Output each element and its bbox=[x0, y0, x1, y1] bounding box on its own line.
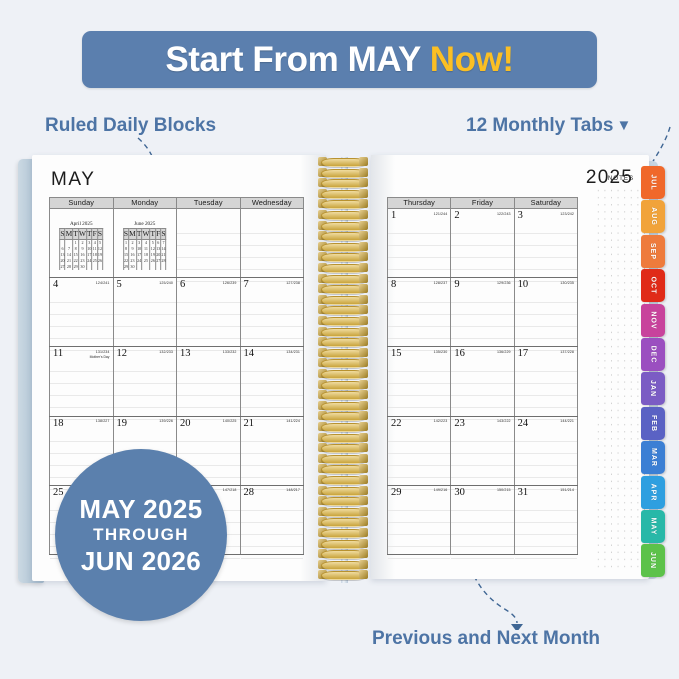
ruled-line bbox=[388, 466, 450, 478]
ruled-line bbox=[451, 535, 513, 547]
ruled-line bbox=[388, 430, 450, 442]
ruled-line bbox=[388, 327, 450, 339]
spiral-coil bbox=[318, 327, 368, 337]
spiral-coil bbox=[318, 295, 368, 305]
ruled-line bbox=[388, 499, 450, 511]
ruled-line bbox=[451, 454, 513, 466]
calendar-ruled-lines bbox=[241, 291, 304, 346]
calendar-day-number: 13 bbox=[180, 348, 191, 359]
calendar-day-number: 29 bbox=[391, 487, 402, 498]
calendar-day-number: 22 bbox=[391, 418, 402, 429]
monthly-tab-jun[interactable]: JUN bbox=[641, 544, 665, 577]
ruled-line bbox=[241, 234, 304, 246]
calendar-day-number: 19 bbox=[117, 418, 128, 429]
ruled-line bbox=[50, 291, 113, 303]
ruled-line bbox=[515, 384, 577, 396]
ruled-line bbox=[114, 396, 177, 408]
ruled-line bbox=[388, 511, 450, 523]
spiral-coil bbox=[318, 464, 368, 474]
calendar-day-ordinal: 139/226 bbox=[159, 419, 173, 423]
spiral-coil bbox=[318, 199, 368, 209]
ruled-line bbox=[515, 360, 577, 372]
calendar-weekday-header: Friday bbox=[451, 198, 514, 209]
calendar-day-ordinal: 143/222 bbox=[497, 419, 511, 423]
calendar-day-ordinal: 134/231 bbox=[286, 350, 300, 354]
calendar-day-ordinal: 137/228 bbox=[560, 350, 574, 354]
spiral-coil bbox=[318, 231, 368, 241]
ruled-line bbox=[451, 315, 513, 327]
spiral-coil bbox=[318, 401, 368, 411]
calendar-day-ordinal: 135/230 bbox=[434, 350, 448, 354]
calendar-day-cell[interactable]: 13133/232 bbox=[177, 347, 241, 416]
ruled-line bbox=[50, 396, 113, 408]
ruled-line bbox=[515, 454, 577, 466]
calendar-day-cell[interactable]: 30150/215 bbox=[451, 485, 514, 554]
monthly-tab-jan[interactable]: JAN bbox=[641, 372, 665, 405]
spiral-coil bbox=[318, 433, 368, 443]
mini-calendar-weekday: M bbox=[65, 229, 73, 240]
ruled-line bbox=[241, 384, 304, 396]
calendar-day-cell[interactable]: 12132/233 bbox=[113, 347, 177, 416]
calendar-ruled-lines bbox=[50, 291, 113, 346]
calendar-weekday-header: Monday bbox=[113, 198, 177, 209]
monthly-tab-apr[interactable]: APR bbox=[641, 476, 665, 509]
spiral-coil bbox=[318, 454, 368, 464]
calendar-day-ordinal: 127/238 bbox=[286, 281, 300, 285]
ruled-line bbox=[114, 315, 177, 327]
ruled-line bbox=[241, 246, 304, 258]
mini-calendar-title: June 2025 bbox=[123, 221, 167, 227]
spiral-coil bbox=[318, 411, 368, 421]
mini-calendar-grid: SMTWTFS123456789101112131415161718192021… bbox=[123, 228, 167, 270]
ruled-line bbox=[451, 246, 513, 258]
ruled-line bbox=[114, 372, 177, 384]
monthly-tab-sep[interactable]: SEP bbox=[641, 235, 665, 268]
calendar-day-ordinal: 148/217 bbox=[286, 488, 300, 492]
calendar-day-ordinal: 125/240 bbox=[159, 281, 173, 285]
ruled-line bbox=[515, 291, 577, 303]
spiral-coil bbox=[318, 189, 368, 199]
ruled-line bbox=[114, 303, 177, 315]
calendar-day-number: 12 bbox=[117, 348, 128, 359]
monthly-tab-label: JUN bbox=[649, 552, 656, 569]
calendar-mini-cell: June 2025SMTWTFS123456789101112131415161… bbox=[113, 209, 177, 278]
calendar-day-cell[interactable]: 3123/242 bbox=[514, 209, 577, 278]
calendar-ruled-lines bbox=[241, 360, 304, 415]
calendar-week-row: 29149/21630150/21531151/214 bbox=[388, 485, 578, 554]
product-image-canvas: Start From MAY Now! Ruled Daily Blocks 1… bbox=[0, 0, 679, 679]
mini-calendar-weekday: M bbox=[129, 229, 137, 240]
calendar-ruled-lines bbox=[241, 222, 304, 277]
calendar-day-cell[interactable]: 8128/237 bbox=[388, 278, 451, 347]
calendar-day-ordinal: 129/236 bbox=[497, 281, 511, 285]
ruled-line bbox=[515, 430, 577, 442]
calendar-header-row-left: SundayMondayTuesdayWednesday bbox=[50, 198, 304, 209]
ruled-line bbox=[515, 499, 577, 511]
ruled-line bbox=[388, 234, 450, 246]
monthly-tab-label: DEC bbox=[650, 346, 657, 364]
ruled-line bbox=[177, 327, 240, 339]
ruled-line bbox=[241, 511, 304, 523]
calendar-ruled-lines bbox=[388, 291, 450, 346]
mini-calendar-weekday: T bbox=[73, 229, 79, 240]
calendar-holiday-label: Mother's Day bbox=[90, 355, 110, 359]
spiral-coil bbox=[318, 263, 368, 273]
ruled-line bbox=[388, 303, 450, 315]
calendar-day-cell[interactable] bbox=[177, 209, 241, 278]
calendar-day-number: 15 bbox=[391, 348, 402, 359]
ruled-line bbox=[451, 303, 513, 315]
ruled-line bbox=[177, 372, 240, 384]
calendar-day-ordinal: 140/225 bbox=[223, 419, 237, 423]
calendar-day-cell[interactable]: 31151/214 bbox=[514, 485, 577, 554]
calendar-ruled-lines bbox=[241, 430, 304, 485]
calendar-ruled-lines bbox=[177, 360, 240, 415]
calendar-day-number: 5 bbox=[117, 279, 122, 290]
ruled-line bbox=[114, 360, 177, 372]
mini-calendar-weekday: S bbox=[161, 229, 166, 240]
calendar-ruled-lines bbox=[451, 291, 513, 346]
ruled-line bbox=[241, 222, 304, 234]
ruled-line bbox=[241, 360, 304, 372]
calendar-weekday-header: Sunday bbox=[50, 198, 114, 209]
spiral-coil bbox=[318, 242, 368, 252]
ruled-line bbox=[451, 499, 513, 511]
calendar-grid-right: ThursdayFridaySaturday 1121/2442122/2433… bbox=[387, 197, 578, 555]
calendar-ruled-lines bbox=[50, 360, 113, 415]
monthly-tab-label: AUG bbox=[650, 208, 657, 227]
monthly-tab-label: JUL bbox=[649, 174, 656, 190]
annotation-previous-next-month: Previous and Next Month bbox=[372, 628, 600, 650]
ruled-line bbox=[241, 291, 304, 303]
ruled-line bbox=[241, 499, 304, 511]
calendar-day-cell[interactable]: 10130/235 bbox=[514, 278, 577, 347]
calendar-ruled-lines bbox=[515, 430, 577, 485]
calendar-weekday-header: Wednesday bbox=[240, 198, 304, 209]
ruled-line bbox=[515, 523, 577, 535]
mini-calendar: June 2025SMTWTFS123456789101112131415161… bbox=[123, 221, 167, 270]
calendar-week-row: 8128/2379129/23610130/235 bbox=[388, 278, 578, 347]
calendar-ruled-lines bbox=[515, 222, 577, 277]
calendar-day-ordinal: 144/221 bbox=[560, 419, 574, 423]
ruled-line bbox=[177, 315, 240, 327]
ruled-line bbox=[177, 258, 240, 270]
spiral-coil bbox=[318, 168, 368, 178]
ruled-line bbox=[515, 535, 577, 547]
calendar-ruled-lines bbox=[451, 222, 513, 277]
calendar-day-number: 28 bbox=[244, 487, 255, 498]
ruled-line bbox=[114, 327, 177, 339]
calendar-day-cell[interactable]: 29149/216 bbox=[388, 485, 451, 554]
calendar-day-ordinal: 142/223 bbox=[434, 419, 448, 423]
ruled-line bbox=[515, 303, 577, 315]
ruled-line bbox=[241, 442, 304, 454]
ruled-line bbox=[515, 315, 577, 327]
calendar-day-cell[interactable] bbox=[240, 209, 304, 278]
calendar-day-ordinal: 130/235 bbox=[560, 281, 574, 285]
mini-calendar-weekday: F bbox=[92, 229, 97, 240]
planner-page-right: 2025 ThursdayFridaySaturday 1121/2442122… bbox=[371, 155, 649, 579]
calendar-day-number: 1 bbox=[391, 210, 396, 221]
calendar-day-cell[interactable]: 7127/238 bbox=[240, 278, 304, 347]
calendar-day-ordinal: 150/215 bbox=[497, 488, 511, 492]
calendar-day-ordinal: 138/227 bbox=[96, 419, 110, 423]
ruled-line bbox=[241, 303, 304, 315]
ruled-line bbox=[388, 384, 450, 396]
spiral-coil bbox=[318, 358, 368, 368]
ruled-line bbox=[515, 511, 577, 523]
date-range-badge-circle: MAY 2025 THROUGH JUN 2026 bbox=[55, 449, 227, 621]
calendar-week-row: 22142/22323143/22224144/221 bbox=[388, 416, 578, 485]
spiral-coil bbox=[318, 252, 368, 262]
spiral-coil bbox=[318, 178, 368, 188]
badge-line-3: JUN 2026 bbox=[81, 547, 201, 576]
calendar-day-number: 30 bbox=[454, 487, 465, 498]
calendar-ruled-lines bbox=[451, 430, 513, 485]
mini-calendar-weekday: W bbox=[78, 229, 86, 240]
spiral-coil bbox=[318, 348, 368, 358]
ruled-line bbox=[388, 454, 450, 466]
calendar-day-cell[interactable]: 15135/230 bbox=[388, 347, 451, 416]
calendar-day-number: 16 bbox=[454, 348, 465, 359]
calendar-ruled-lines bbox=[388, 360, 450, 415]
spiral-coil bbox=[318, 528, 368, 538]
ruled-line bbox=[114, 430, 177, 442]
ruled-line bbox=[451, 222, 513, 234]
ruled-line bbox=[515, 396, 577, 408]
annotation-monthly-tabs-label: 12 Monthly Tabs bbox=[466, 115, 613, 136]
monthly-tab-label: MAY bbox=[649, 518, 656, 536]
calendar-weekday-header: Tuesday bbox=[177, 198, 241, 209]
calendar-ruled-lines bbox=[388, 430, 450, 485]
monthly-tab-feb[interactable]: FEB bbox=[641, 407, 665, 440]
calendar-day-number: 24 bbox=[518, 418, 529, 429]
calendar-ruled-lines bbox=[114, 360, 177, 415]
ruled-line bbox=[50, 303, 113, 315]
monthly-tab-nov[interactable]: NOV bbox=[641, 304, 665, 337]
calendar-ruled-lines bbox=[515, 360, 577, 415]
calendar-day-number: 4 bbox=[53, 279, 58, 290]
calendar-week-row: 4124/2415125/2406126/2397127/238 bbox=[50, 278, 304, 347]
ruled-line bbox=[177, 303, 240, 315]
monthly-tab-label: OCT bbox=[650, 277, 657, 295]
ruled-line bbox=[451, 466, 513, 478]
ruled-line bbox=[177, 430, 240, 442]
ruled-line bbox=[50, 372, 113, 384]
calendar-day-cell[interactable]: 4124/241 bbox=[50, 278, 114, 347]
calendar-day-cell[interactable]: 2122/243 bbox=[451, 209, 514, 278]
calendar-week-row: April 2025SMTWTFS12345678910111213141516… bbox=[50, 209, 304, 278]
calendar-ruled-lines bbox=[241, 499, 304, 554]
monthly-tab-oct[interactable]: OCT bbox=[641, 269, 665, 302]
mini-calendar-day bbox=[161, 264, 166, 270]
calendar-day-number: 10 bbox=[518, 279, 529, 290]
ruled-line bbox=[451, 291, 513, 303]
spiral-coil bbox=[318, 507, 368, 517]
calendar-ruled-lines bbox=[388, 222, 450, 277]
ruled-line bbox=[388, 547, 450, 559]
monthly-tab-label: NOV bbox=[649, 311, 656, 329]
monthly-tab-label: JAN bbox=[649, 380, 656, 397]
ruled-line bbox=[451, 547, 513, 559]
ruled-line bbox=[50, 384, 113, 396]
mini-calendar-weekday: S bbox=[123, 229, 128, 240]
calendar-body-right: 1121/2442122/2433123/2428128/2379129/236… bbox=[388, 209, 578, 555]
ruled-line bbox=[451, 372, 513, 384]
spiral-coil bbox=[318, 539, 368, 549]
ruled-line bbox=[451, 430, 513, 442]
calendar-day-cell[interactable]: 16136/229 bbox=[451, 347, 514, 416]
calendar-day-ordinal: 122/243 bbox=[497, 212, 511, 216]
ruled-line bbox=[177, 222, 240, 234]
spiral-coil bbox=[318, 560, 368, 570]
mini-calendar-day: 30 bbox=[78, 264, 86, 270]
calendar-day-number: 6 bbox=[180, 279, 185, 290]
calendar-ruled-lines bbox=[451, 360, 513, 415]
ruled-line bbox=[515, 246, 577, 258]
mini-calendar-weekday: T bbox=[150, 229, 156, 240]
calendar-day-cell[interactable]: 28148/217 bbox=[240, 485, 304, 554]
calendar-day-number: 23 bbox=[454, 418, 465, 429]
ruled-line bbox=[177, 384, 240, 396]
monthly-tab-may[interactable]: MAY bbox=[641, 510, 665, 543]
spiral-coil bbox=[318, 284, 368, 294]
calendar-week-row: 15135/23016136/22917137/228 bbox=[388, 347, 578, 416]
ruled-line bbox=[388, 291, 450, 303]
ruled-line bbox=[515, 466, 577, 478]
promo-banner-main: Start From MAY bbox=[165, 40, 429, 79]
calendar-day-number: 11 bbox=[53, 348, 63, 359]
badge-line-2: THROUGH bbox=[93, 523, 189, 547]
calendar-day-cell[interactable]: 9129/236 bbox=[451, 278, 514, 347]
ruled-line bbox=[241, 466, 304, 478]
calendar-day-ordinal: 124/241 bbox=[96, 281, 110, 285]
calendar-day-cell[interactable]: 22142/223 bbox=[388, 416, 451, 485]
ruled-line bbox=[241, 372, 304, 384]
calendar-day-ordinal: 123/242 bbox=[560, 212, 574, 216]
spiral-coil bbox=[318, 486, 368, 496]
ruled-line bbox=[388, 442, 450, 454]
calendar-weekday-header: Thursday bbox=[388, 198, 451, 209]
mini-calendar-weekday: T bbox=[87, 229, 93, 240]
spiral-coil bbox=[318, 316, 368, 326]
spiral-coil bbox=[318, 210, 368, 220]
calendar-day-number: 31 bbox=[518, 487, 529, 498]
ruled-line bbox=[177, 291, 240, 303]
ruled-line bbox=[114, 384, 177, 396]
monthly-tab-jul[interactable]: JUL bbox=[641, 166, 665, 199]
monthly-tab-aug[interactable]: AUG bbox=[641, 200, 665, 233]
calendar-day-cell[interactable]: 6126/239 bbox=[177, 278, 241, 347]
ruled-line bbox=[241, 535, 304, 547]
mini-calendar-weekday: W bbox=[142, 229, 150, 240]
calendar-day-number: 17 bbox=[518, 348, 529, 359]
calendar-day-number: 20 bbox=[180, 418, 191, 429]
calendar-week-row: 1121/2442122/2433123/242 bbox=[388, 209, 578, 278]
spiral-coil bbox=[318, 221, 368, 231]
calendar-day-number: 9 bbox=[454, 279, 459, 290]
calendar-day-cell[interactable]: 11131/234Mother's Day bbox=[50, 347, 114, 416]
ruled-line bbox=[114, 291, 177, 303]
ruled-line bbox=[388, 246, 450, 258]
calendar-day-ordinal: 147/218 bbox=[223, 488, 237, 492]
monthly-tab-label: MAR bbox=[649, 448, 656, 467]
ruled-line bbox=[388, 258, 450, 270]
calendar-day-ordinal: 136/229 bbox=[497, 350, 511, 354]
calendar-day-number: 3 bbox=[518, 210, 523, 221]
ruled-line bbox=[388, 396, 450, 408]
spiral-coil bbox=[318, 549, 368, 559]
calendar-day-cell[interactable]: 5125/240 bbox=[113, 278, 177, 347]
ruled-line bbox=[388, 360, 450, 372]
calendar-day-cell[interactable]: 21141/224 bbox=[240, 416, 304, 485]
calendar-day-cell[interactable]: 1121/244 bbox=[388, 209, 451, 278]
mini-calendar-title: April 2025 bbox=[59, 221, 103, 227]
ruled-line bbox=[177, 234, 240, 246]
calendar-ruled-lines bbox=[388, 499, 450, 554]
ruled-line bbox=[388, 372, 450, 384]
spiral-coil bbox=[318, 369, 368, 379]
monthly-tab-label: SEP bbox=[649, 243, 656, 260]
ruled-line bbox=[50, 360, 113, 372]
annotation-ruled-daily-blocks: Ruled Daily Blocks bbox=[45, 115, 216, 137]
calendar-day-cell[interactable]: 23143/222 bbox=[451, 416, 514, 485]
ruled-line bbox=[50, 315, 113, 327]
spiral-binding bbox=[318, 157, 370, 583]
ruled-line bbox=[50, 430, 113, 442]
calendar-week-row: 11131/234Mother's Day12132/23313133/2321… bbox=[50, 347, 304, 416]
monthly-tab-dec[interactable]: DEC bbox=[641, 338, 665, 371]
spiral-coil bbox=[318, 570, 368, 580]
calendar-header-row-right: ThursdayFridaySaturday bbox=[388, 198, 578, 209]
calendar-ruled-lines bbox=[451, 499, 513, 554]
calendar-day-ordinal: 126/239 bbox=[223, 281, 237, 285]
date-range-badge: MAY 2025 THROUGH JUN 2026 bbox=[55, 497, 227, 621]
mini-calendar-weekday: T bbox=[136, 229, 142, 240]
monthly-tab-mar[interactable]: MAR bbox=[641, 441, 665, 474]
calendar-day-ordinal: 128/237 bbox=[434, 281, 448, 285]
calendar-weekday-header: Saturday bbox=[514, 198, 577, 209]
monthly-tab-strip[interactable]: JULAUGSEPOCTNOVDECJANFEBMARAPRMAYJUN bbox=[641, 166, 665, 580]
ruled-line bbox=[451, 234, 513, 246]
mini-calendar-day bbox=[97, 264, 102, 270]
badge-line-1: MAY 2025 bbox=[79, 495, 202, 524]
monthly-tab-label: FEB bbox=[650, 415, 657, 432]
calendar-day-cell[interactable]: 17137/228 bbox=[514, 347, 577, 416]
ruled-line bbox=[451, 442, 513, 454]
spiral-coil bbox=[318, 517, 368, 527]
ruled-line bbox=[241, 523, 304, 535]
calendar-day-number: 8 bbox=[391, 279, 396, 290]
ruled-line bbox=[451, 384, 513, 396]
ruled-line bbox=[241, 454, 304, 466]
ruled-line bbox=[241, 396, 304, 408]
mini-calendar-weekday: S bbox=[60, 229, 65, 240]
mini-calendar-grid: SMTWTFS123456789101112131415161718192021… bbox=[59, 228, 103, 270]
mini-calendar: April 2025SMTWTFS12345678910111213141516… bbox=[59, 221, 103, 270]
calendar-day-ordinal: 141/224 bbox=[286, 419, 300, 423]
calendar-day-number: 7 bbox=[244, 279, 249, 290]
calendar-day-cell[interactable]: 24144/221 bbox=[514, 416, 577, 485]
mini-calendar-day: 30 bbox=[129, 264, 137, 270]
spiral-coil bbox=[318, 422, 368, 432]
spiral-coil bbox=[318, 337, 368, 347]
ruled-line bbox=[177, 360, 240, 372]
calendar-day-cell[interactable]: 14134/231 bbox=[240, 347, 304, 416]
ruled-line bbox=[515, 547, 577, 559]
spiral-coil bbox=[318, 380, 368, 390]
ruled-line bbox=[451, 327, 513, 339]
